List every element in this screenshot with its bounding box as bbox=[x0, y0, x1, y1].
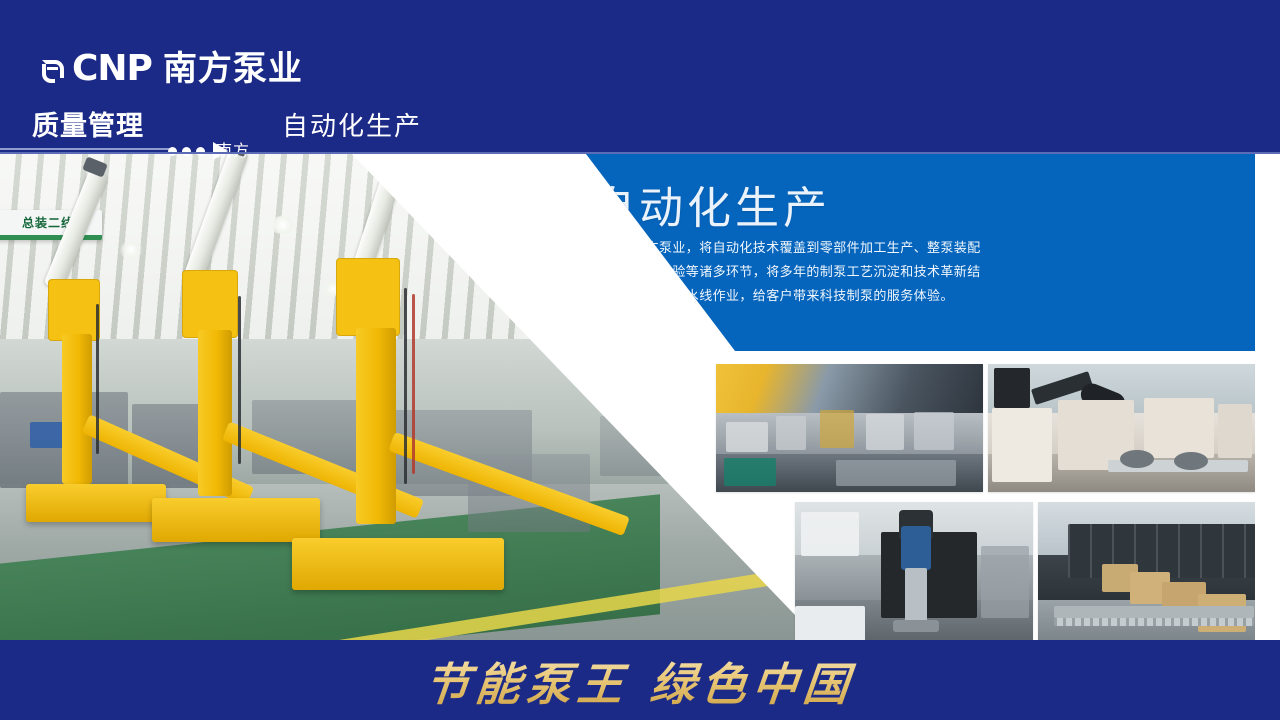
brand-logo-chinese: 南方泵业 bbox=[163, 52, 303, 86]
packing-conveyor-photo[interactable] bbox=[1038, 502, 1255, 641]
header-nav: 质量管理 南方 自动化生产 bbox=[0, 104, 1280, 154]
slide-root: CNP 南方泵业 质量管理 南方 自动化生产 bbox=[0, 0, 1280, 720]
assembly-line-components-photo[interactable] bbox=[716, 364, 983, 492]
pump-test-station-photo[interactable] bbox=[795, 502, 1033, 641]
panel-paragraph-line: 如今的南方泵业，将自动化技术覆盖到零部件加工生产、整泵装配 bbox=[592, 237, 1010, 261]
info-panel: 自动化生产 如今的南方泵业，将自动化技术覆盖到零部件加工生产、整泵装配 调试、出… bbox=[560, 154, 1255, 351]
section-title: 质量管理 bbox=[32, 104, 144, 143]
panel-paragraph-line: 合到定制化的流水线作业，给客户带来科技制泵的服务体验。 bbox=[592, 285, 1010, 309]
right-white-margin bbox=[1255, 308, 1280, 641]
footer-slogan: 节能泵王 绿色中国 bbox=[0, 640, 1280, 720]
current-page-label: 自动化生产 bbox=[282, 106, 422, 143]
breadcrumb-label[interactable]: 南方 bbox=[216, 137, 250, 161]
slide-header: CNP 南方泵业 质量管理 南方 自动化生产 bbox=[0, 0, 1280, 154]
nav-underline bbox=[0, 148, 172, 150]
header-divider bbox=[0, 152, 1280, 154]
brand-logo-latin: CNP bbox=[72, 52, 152, 86]
slide-stage: 总装二线 bbox=[0, 154, 1280, 641]
robotic-arm-line-photo[interactable] bbox=[988, 364, 1255, 492]
panel-paragraph-line: 调试、出厂检验等诸多环节，将多年的制泵工艺沉淀和技术革新结 bbox=[592, 261, 1010, 285]
cnp-emblem-icon bbox=[38, 54, 68, 84]
slide-footer: 节能泵王 绿色中国 bbox=[0, 640, 1280, 720]
panel-paragraph: 如今的南方泵业，将自动化技术覆盖到零部件加工生产、整泵装配 调试、出厂检验等诸多… bbox=[592, 237, 1010, 309]
brand-logo[interactable]: CNP 南方泵业 bbox=[38, 52, 303, 86]
panel-title: 自动化生产 bbox=[591, 172, 831, 236]
